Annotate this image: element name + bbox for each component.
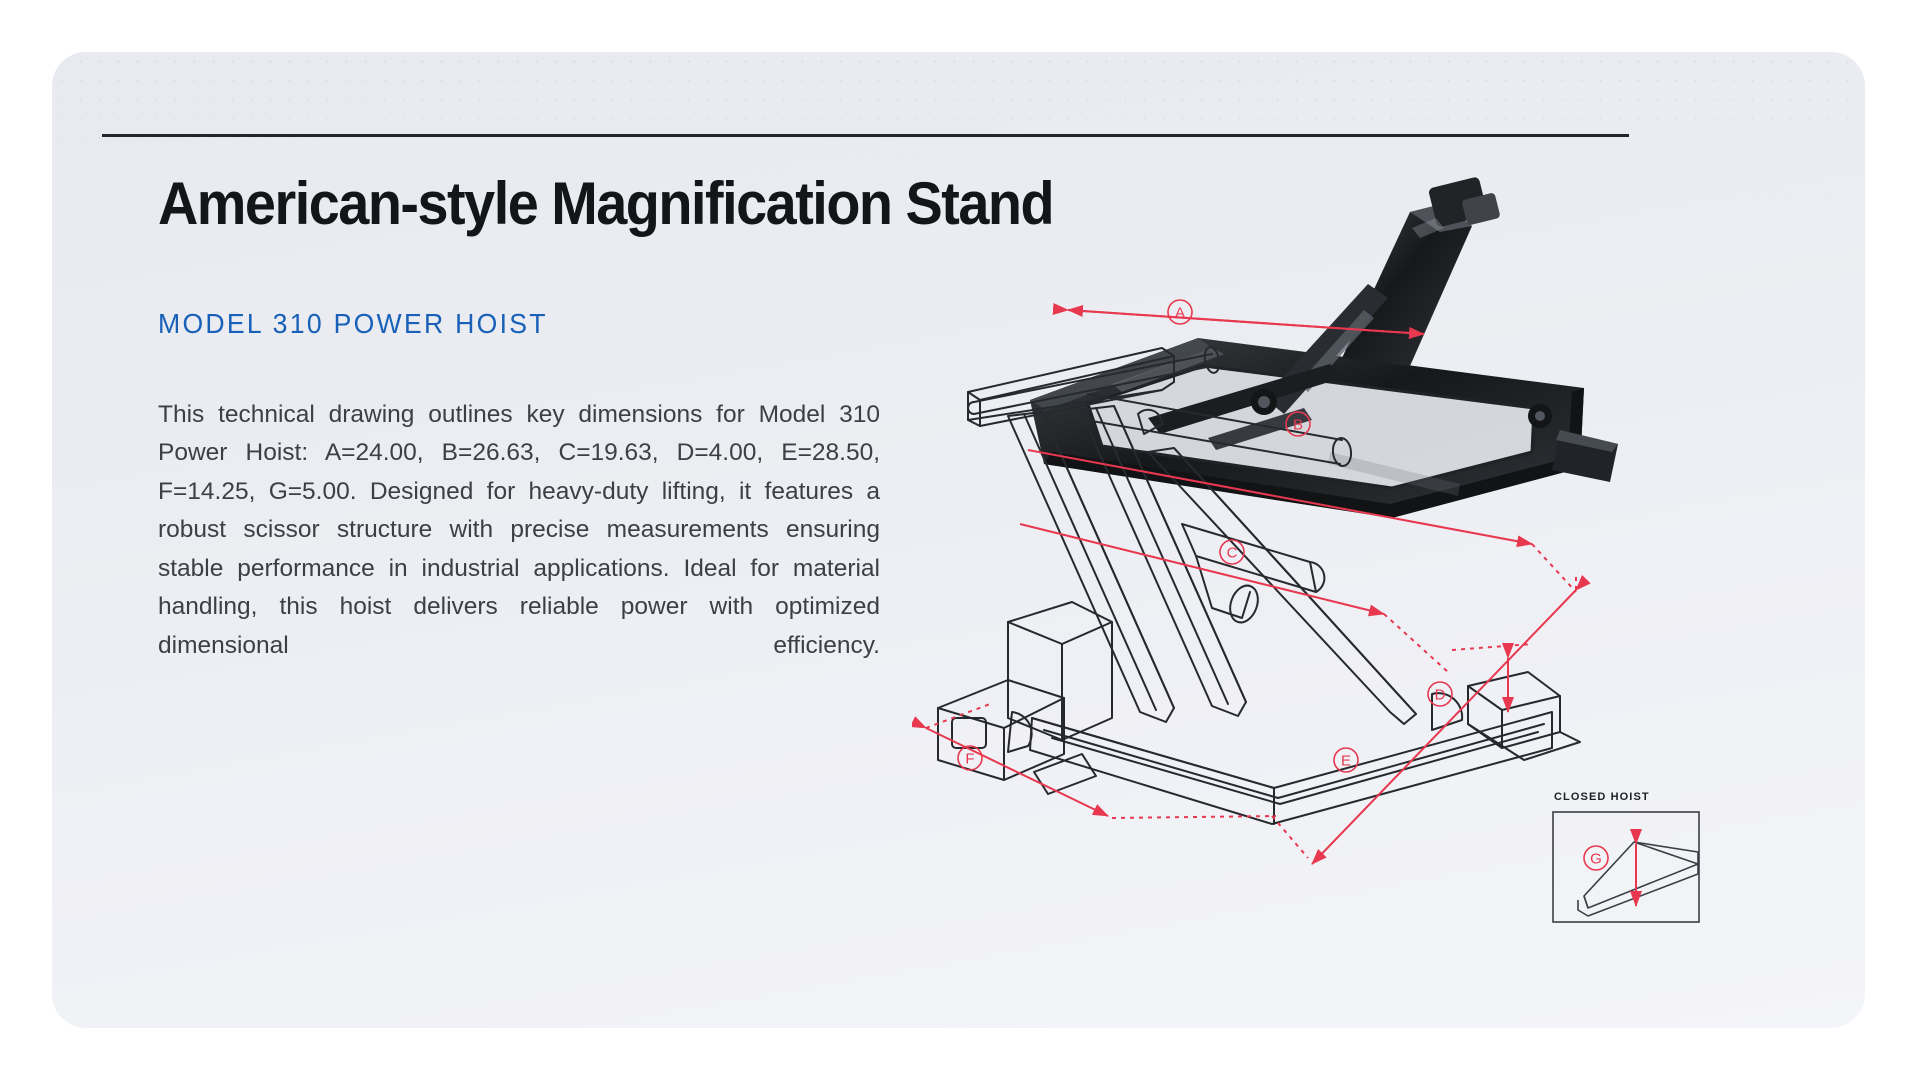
screenshot-root: American-style Magnification Stand MODEL…	[0, 0, 1920, 1080]
dimension-label-a: A	[1175, 305, 1185, 322]
dimension-line-c	[1020, 524, 1384, 614]
dimension-label-g: G	[1590, 851, 1602, 868]
closed-hoist-caption: CLOSED HOIST	[1554, 791, 1650, 803]
closed-hoist-frame	[1553, 812, 1699, 922]
text-column: American-style Magnification Stand MODEL…	[158, 172, 888, 704]
dimension-label-c: C	[1227, 545, 1238, 562]
page-title: American-style Magnification Stand	[158, 172, 837, 235]
closed-hoist-inset: CLOSED HOIST G	[1553, 791, 1699, 922]
header-divider	[102, 134, 1629, 137]
technical-drawing: A B C D E F CLOSED HOIST	[912, 152, 1862, 972]
dimension-label-d: D	[1435, 687, 1446, 704]
dimension-label-e: E	[1341, 753, 1351, 770]
model-subtitle: MODEL 310 POWER HOIST	[158, 309, 852, 340]
description-paragraph: This technical drawing outlines key dime…	[158, 396, 880, 704]
dimension-label-b: B	[1293, 417, 1303, 434]
dimension-label-f: F	[965, 751, 974, 768]
product-card: American-style Magnification Stand MODEL…	[52, 52, 1865, 1028]
